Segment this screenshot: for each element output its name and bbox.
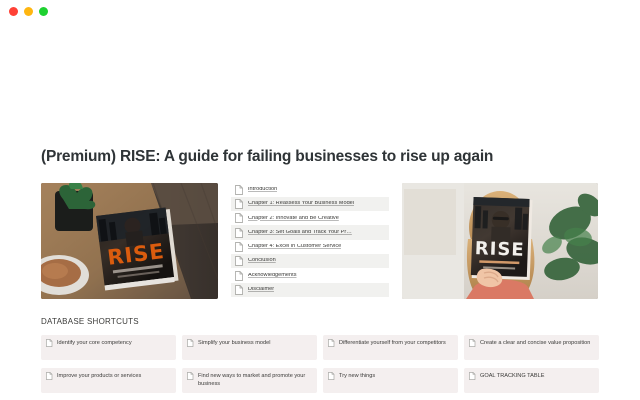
shortcut-card[interactable]: Create a clear and concise value proposi… [464, 335, 599, 360]
top-columns-row: RISE [41, 183, 599, 299]
toc-item[interactable]: Chapter 4: Excel in Customer Service [231, 240, 389, 254]
page-link-icon [187, 339, 194, 347]
toc-item[interactable]: Chapter 2: Innovate and Be Creative [231, 211, 389, 225]
shortcut-card-label: GOAL TRACKING TABLE [480, 372, 544, 380]
page-icon [235, 213, 243, 223]
toc-item[interactable]: Introduction [231, 183, 389, 197]
shortcut-card-label: Simplify your business model [198, 339, 270, 347]
page-link-icon [46, 372, 53, 380]
page-icon [235, 242, 243, 252]
page-link-icon [187, 372, 194, 380]
toc-item[interactable]: Disclaimer [231, 283, 389, 297]
shortcut-card-label: Differentiate yourself from your competi… [339, 339, 446, 347]
toc-item[interactable]: Chapter 3: Set Goals and Track Your Pr… [231, 225, 389, 239]
minimize-window-button[interactable] [24, 7, 33, 16]
page-icon [235, 271, 243, 281]
toc-item-label: Chapter 2: Innovate and Be Creative [248, 216, 339, 222]
shortcut-card-label: Improve your products or services [57, 372, 141, 380]
toc-item-label: Chapter 3: Set Goals and Track Your Pr… [248, 230, 352, 236]
database-shortcuts-heading: DATABASE SHORTCUTS [41, 317, 599, 326]
right-image-column: RISE [402, 183, 598, 299]
page-link-icon [469, 339, 476, 347]
page-link-icon [469, 372, 476, 380]
shortcut-card[interactable]: Try new things [323, 368, 458, 393]
book-photo-icon: RISE [41, 183, 218, 299]
page-icon [235, 256, 243, 266]
person-holding-book-photo-icon: RISE [402, 183, 598, 299]
close-window-button[interactable] [9, 7, 18, 16]
toc-item[interactable]: Acknowledgements [231, 268, 389, 282]
table-of-contents-column: Introduction Chapter 1: Reassess Your Bu… [231, 183, 389, 297]
maximize-window-button[interactable] [39, 7, 48, 16]
toc-item-label: Conclusion [248, 258, 276, 264]
shortcut-card[interactable]: Improve your products or services [41, 368, 176, 393]
shortcut-card[interactable]: GOAL TRACKING TABLE [464, 368, 599, 393]
database-shortcuts-grid: Identify your core competency Simplify y… [41, 335, 599, 393]
person-holding-book-image: RISE [402, 183, 598, 299]
page-title: (Premium) RISE: A guide for failing busi… [41, 148, 599, 167]
book-on-table-image: RISE [41, 183, 218, 299]
page-link-icon [46, 339, 53, 347]
toc-item-label: Acknowledgements [248, 273, 297, 279]
shortcut-card-label: Try new things [339, 372, 375, 380]
traffic-lights [9, 7, 48, 16]
page-content: (Premium) RISE: A guide for failing busi… [41, 148, 599, 393]
toc-item-label: Chapter 4: Excel in Customer Service [248, 244, 341, 250]
table-of-contents-list: Introduction Chapter 1: Reassess Your Bu… [231, 183, 389, 297]
page-icon [235, 185, 243, 195]
shortcut-card[interactable]: Find new ways to market and promote your… [182, 368, 317, 393]
toc-item[interactable]: Conclusion [231, 254, 389, 268]
left-image-column: RISE [41, 183, 218, 299]
page-icon [235, 228, 243, 238]
page-icon [235, 199, 243, 209]
shortcut-card[interactable]: Identify your core competency [41, 335, 176, 360]
page-link-icon [328, 339, 335, 347]
shortcut-card[interactable]: Differentiate yourself from your competi… [323, 335, 458, 360]
shortcut-card-label: Create a clear and concise value proposi… [480, 339, 590, 347]
document-page: (Premium) RISE: A guide for failing busi… [0, 22, 640, 400]
window-title-bar [0, 0, 640, 22]
page-link-icon [328, 372, 335, 380]
toc-item-label: Chapter 1: Reassess Your Business Model [248, 201, 354, 207]
toc-item-label: Introduction [248, 187, 277, 193]
shortcut-card-label: Identify your core competency [57, 339, 132, 347]
toc-item-label: Disclaimer [248, 287, 274, 293]
page-icon [235, 285, 243, 295]
toc-item[interactable]: Chapter 1: Reassess Your Business Model [231, 197, 389, 211]
shortcut-card[interactable]: Simplify your business model [182, 335, 317, 360]
shortcut-card-label: Find new ways to market and promote your… [198, 372, 312, 389]
